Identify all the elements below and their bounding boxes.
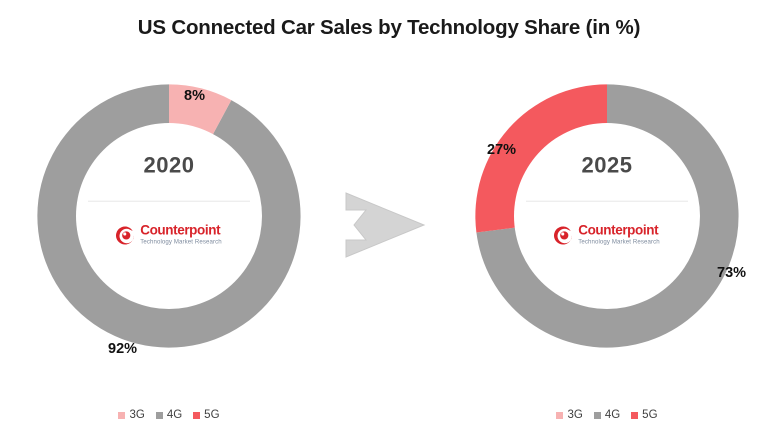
legend-swatch-5g-icon xyxy=(193,412,200,419)
donut-chart-2020: 2020 Counterpoint Technology Market Rese… xyxy=(14,57,324,375)
legend-2025: 3G 4G 5G xyxy=(452,410,762,422)
legend-2020: 3G 4G 5G xyxy=(14,410,324,422)
slice-label-4g-2025: 73% xyxy=(717,265,746,281)
legend-swatch-3g-icon xyxy=(556,412,563,419)
donut-svg-2025 xyxy=(452,57,762,375)
slice-label-5g-2025: 27% xyxy=(487,142,516,158)
legend-item-4g[interactable]: 4G xyxy=(156,410,182,422)
legend-swatch-3g-icon xyxy=(118,412,125,419)
legend-item-5g[interactable]: 5G xyxy=(193,410,219,422)
donut-chart-2025: 2025 Counterpoint Technology Market Rese… xyxy=(452,57,762,375)
legend-label-4g: 4G xyxy=(167,410,182,422)
legend-swatch-4g-icon xyxy=(156,412,163,419)
legend-item-5g[interactable]: 5G xyxy=(631,410,657,422)
legend-label-5g: 5G xyxy=(204,410,219,422)
legend-label-3g: 3G xyxy=(567,410,582,422)
legend-item-4g[interactable]: 4G xyxy=(594,410,620,422)
legend-swatch-5g-icon xyxy=(631,412,638,419)
slice-label-3g-2020: 8% xyxy=(184,88,205,104)
legend-label-4g: 4G xyxy=(605,410,620,422)
donut-hole-2020 xyxy=(76,123,262,309)
right-arrow-icon xyxy=(344,192,426,258)
legend-label-3g: 3G xyxy=(129,410,144,422)
legend-item-3g[interactable]: 3G xyxy=(118,410,144,422)
legend-swatch-4g-icon xyxy=(594,412,601,419)
donut-svg-2020 xyxy=(14,57,324,375)
slice-label-4g-2020: 92% xyxy=(108,341,137,357)
legend-item-3g[interactable]: 3G xyxy=(556,410,582,422)
legend-label-5g: 5G xyxy=(642,410,657,422)
donut-hole-2025 xyxy=(514,123,700,309)
page-title: US Connected Car Sales by Technology Sha… xyxy=(0,16,778,40)
